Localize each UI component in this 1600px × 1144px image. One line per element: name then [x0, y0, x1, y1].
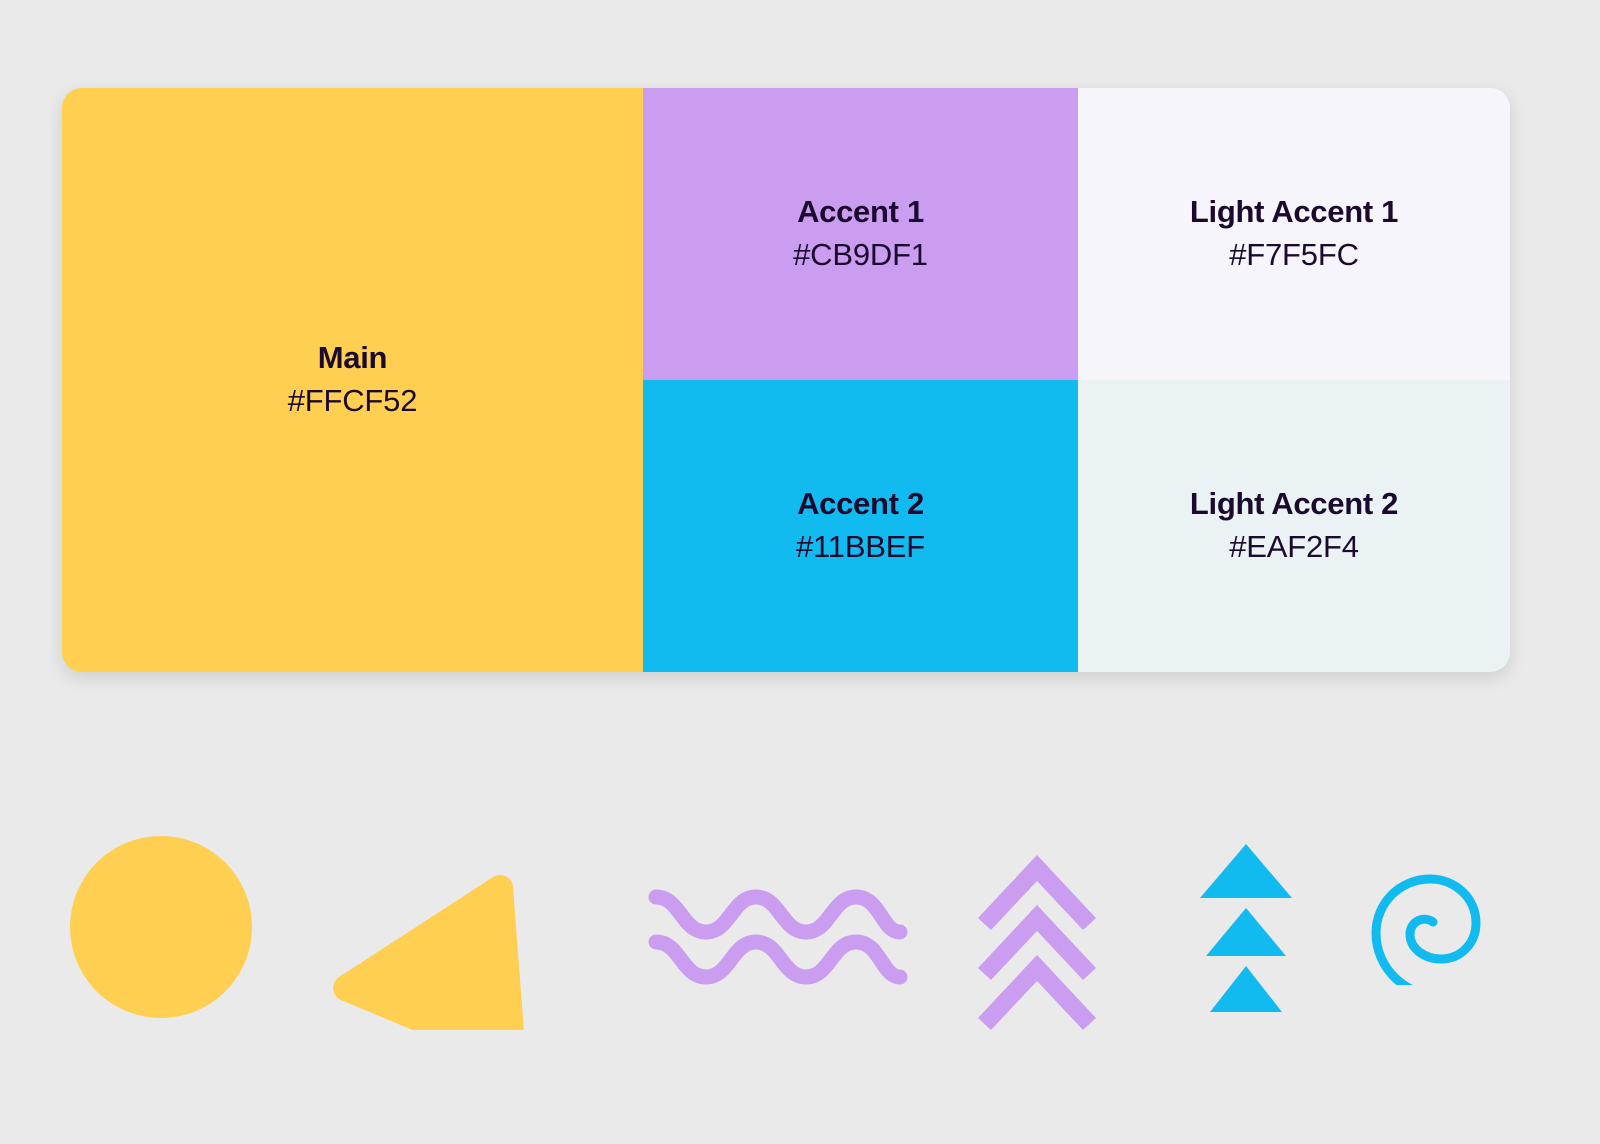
swatch-accent-1[interactable]: Accent 1 #CB9DF1	[643, 88, 1078, 380]
swatch-light-accent-1-name: Light Accent 1	[1190, 192, 1398, 232]
swatch-light-accent-1[interactable]: Light Accent 1 #F7F5FC	[1078, 88, 1510, 380]
swatch-light-accent-2-name: Light Accent 2	[1190, 484, 1398, 524]
swatch-light-accent-2-hex: #EAF2F4	[1229, 526, 1359, 568]
swatch-accent-2-name: Accent 2	[797, 484, 924, 524]
swatch-row-top: Accent 1 #CB9DF1 Light Accent 1 #F7F5FC	[643, 88, 1510, 380]
swatch-accent-2[interactable]: Accent 2 #11BBEF	[643, 380, 1078, 672]
color-palette-card: Main #FFCF52 Accent 1 #CB9DF1 Light Acce…	[62, 88, 1510, 672]
swatch-accent-1-hex: #CB9DF1	[793, 234, 928, 276]
spiral-icon	[1355, 835, 1500, 990]
left-pointing-triangle-icon	[330, 830, 530, 1035]
triple-chevron-up-icon	[975, 830, 1100, 1040]
swatch-main[interactable]: Main #FFCF52	[62, 88, 643, 672]
double-wavy-line-icon	[632, 870, 922, 1015]
filled-circle-icon	[70, 836, 252, 1018]
swatch-light-accent-1-hex: #F7F5FC	[1229, 234, 1359, 276]
swatch-row-bottom: Accent 2 #11BBEF Light Accent 2 #EAF2F4	[643, 380, 1510, 672]
swatch-stack: Accent 1 #CB9DF1 Light Accent 1 #F7F5FC …	[643, 88, 1510, 672]
swatch-light-accent-2[interactable]: Light Accent 2 #EAF2F4	[1078, 380, 1510, 672]
swatch-main-name: Main	[318, 338, 387, 378]
swatch-accent-1-name: Accent 1	[797, 192, 924, 232]
swatch-accent-2-hex: #11BBEF	[796, 526, 925, 568]
swatch-main-hex: #FFCF52	[288, 380, 418, 422]
triple-triangle-up-icon	[1196, 830, 1296, 1030]
decorative-shapes-strip	[0, 790, 1600, 1090]
